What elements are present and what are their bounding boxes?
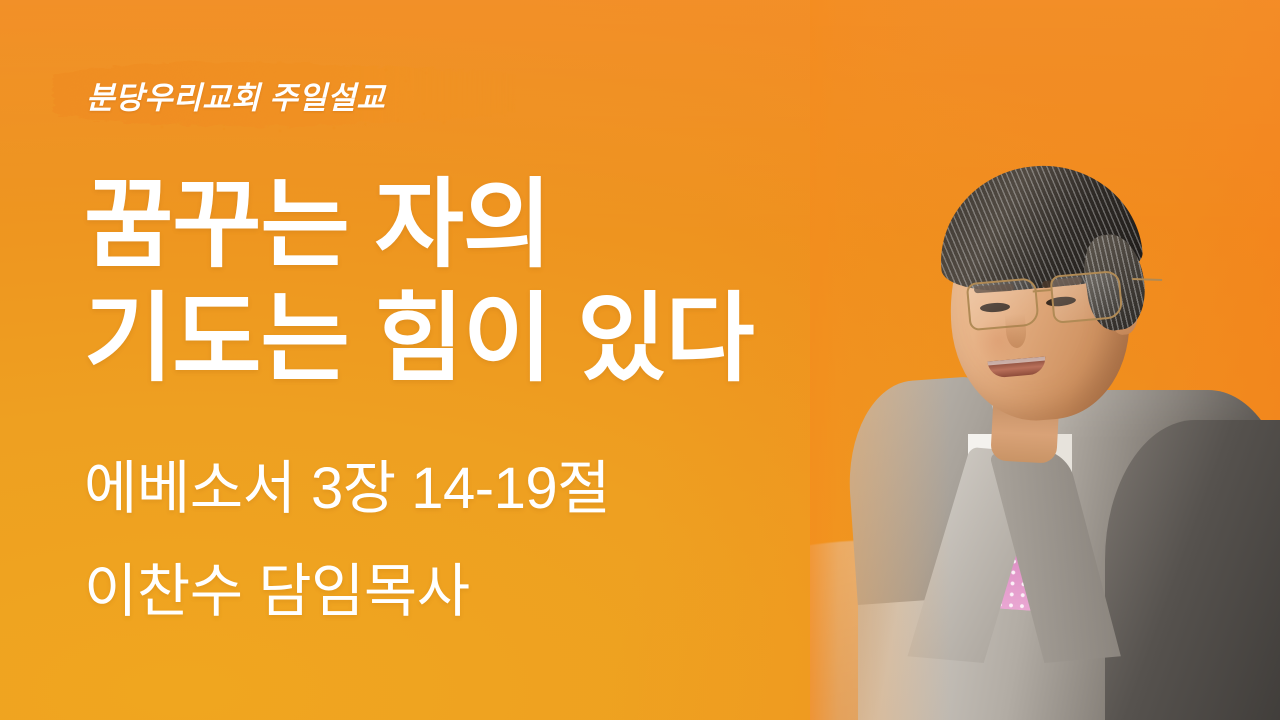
speaker-name: 이찬수 담임목사 [84, 540, 844, 643]
sermon-title: 꿈꾸는 자의 기도는 힘이 있다 [84, 168, 864, 397]
glasses-lens-left [966, 277, 1040, 331]
glasses-bridge [1033, 289, 1051, 293]
glasses-lens-right [1049, 270, 1123, 324]
glasses-temple [1132, 278, 1162, 281]
sermon-title-line-2: 기도는 힘이 있다 [84, 282, 864, 396]
sermon-title-line-1: 꿈꾸는 자의 [84, 168, 864, 282]
speaker-photo [810, 0, 1280, 720]
sermon-thumbnail: 분당우리교회 주일설교 꿈꾸는 자의 기도는 힘이 있다 에베소서 3장 14-… [0, 0, 1280, 720]
sermon-details: 에베소서 3장 14-19절 이찬수 담임목사 [84, 437, 844, 643]
scripture-reference: 에베소서 3장 14-19절 [84, 437, 844, 540]
church-badge-label: 분당우리교회 주일설교 [86, 73, 385, 118]
suit-arm-right [1105, 420, 1280, 720]
church-badge: 분당우리교회 주일설교 [34, 52, 554, 138]
